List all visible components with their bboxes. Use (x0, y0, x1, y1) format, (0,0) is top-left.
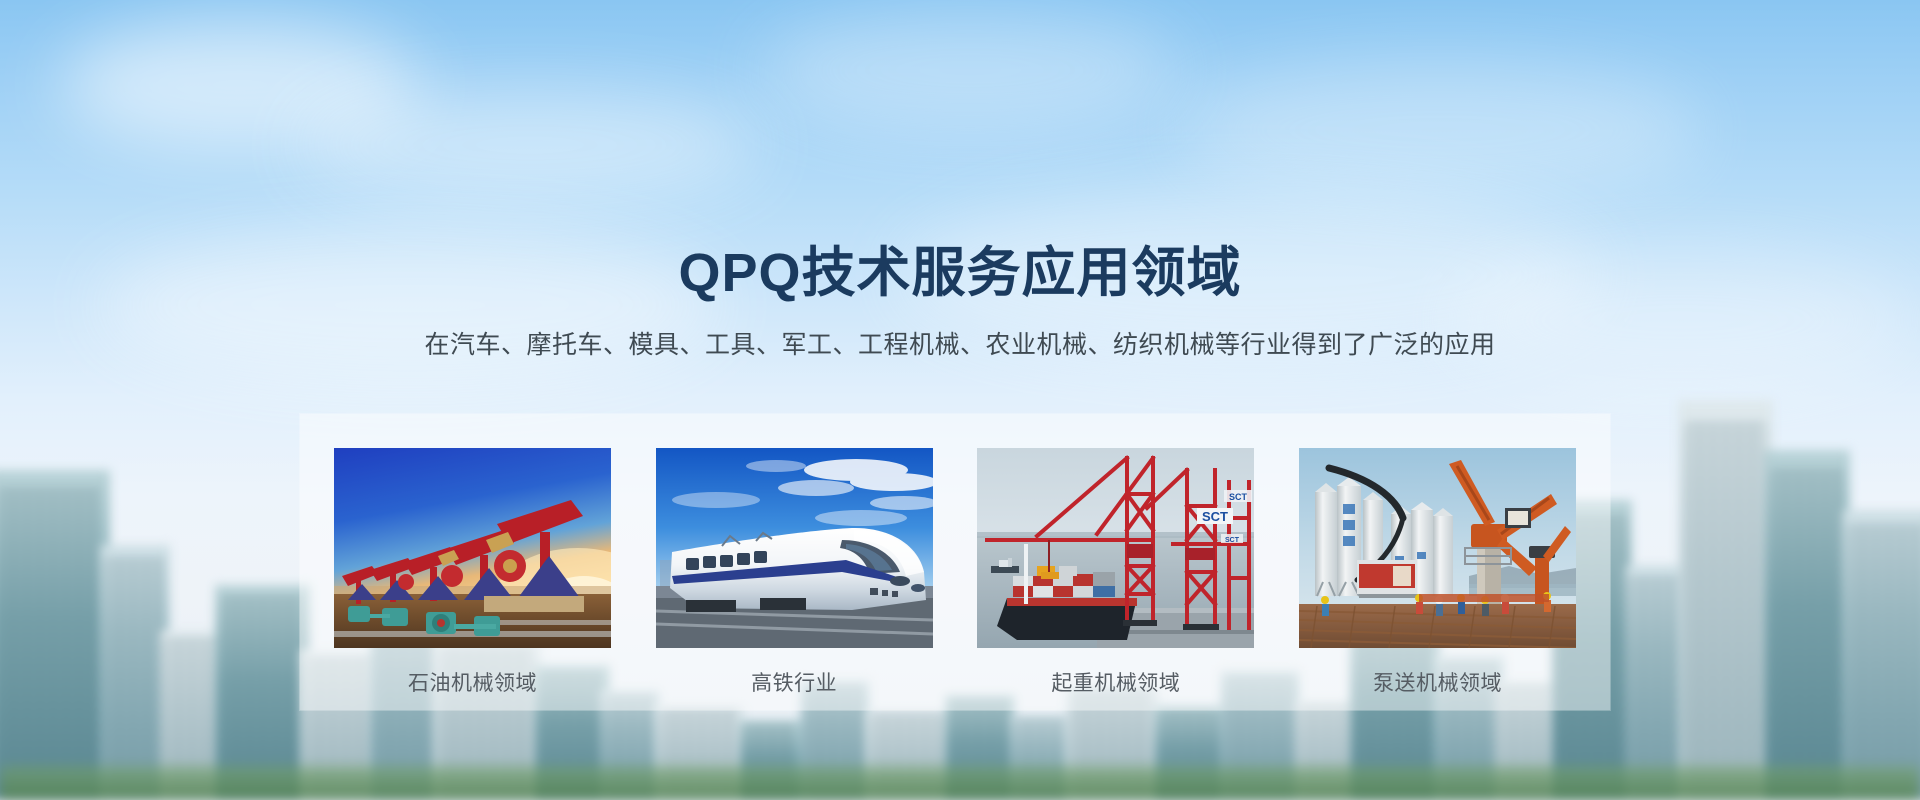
skyline-building (160, 630, 220, 800)
skyline-building (1295, 700, 1355, 800)
skyline-building (740, 720, 800, 800)
cloud-wisp-icon (60, 20, 420, 150)
skyline-building (100, 545, 170, 800)
card-caption: 石油机械领域 (408, 667, 537, 697)
skyline-building (1765, 450, 1850, 800)
svg-text:SCT: SCT (1229, 492, 1248, 502)
card-thumbnail-oil[interactable] (334, 448, 611, 648)
card-caption: 泵送机械领域 (1373, 667, 1502, 697)
port-crane-illustration: SCT SCT SCT (977, 448, 1254, 648)
skyline-building (1010, 715, 1070, 800)
cloud-wisp-icon (300, 90, 760, 200)
list-item[interactable]: 石油机械领域 (334, 448, 611, 710)
concrete-pump-illustration (1299, 448, 1576, 648)
skyline-building (0, 470, 110, 800)
card-thumbnail-train[interactable] (656, 448, 933, 648)
page-title: QPQ技术服务应用领域 (0, 243, 1920, 303)
svg-text:SCT: SCT (1225, 537, 1240, 544)
card-thumbnail-crane[interactable]: SCT SCT SCT (977, 448, 1254, 648)
skyline-building (655, 705, 745, 800)
application-fields-panel: 石油机械领域 (300, 414, 1610, 710)
skyline-building (945, 695, 1015, 800)
oil-field-illustration (334, 448, 611, 648)
list-item[interactable]: 泵送机械领域 (1299, 448, 1576, 710)
skyline-building (865, 710, 950, 800)
card-thumbnail-pump[interactable] (1299, 448, 1576, 648)
cloud-wisp-icon (760, 10, 1180, 130)
card-list: 石油机械领域 (300, 414, 1610, 710)
hero-banner: QPQ技术服务应用领域 在汽车、摩托车、模具、工具、军工、工程机械、农业机械、纺… (0, 0, 1920, 800)
list-item[interactable]: SCT SCT SCT (977, 448, 1254, 710)
high-speed-train-illustration (656, 448, 933, 648)
skyline-building (1678, 400, 1773, 800)
skyline-building (1155, 705, 1225, 800)
skyline-building (215, 585, 310, 800)
card-caption: 起重机械领域 (1051, 667, 1180, 697)
page-subtitle: 在汽车、摩托车、模具、工具、军工、工程机械、农业机械、纺织机械等行业得到了广泛的… (0, 325, 1920, 361)
foreground-greenery (0, 766, 1920, 800)
skyline-building (1842, 510, 1920, 800)
skyline-building (1625, 565, 1685, 800)
svg-text:SCT: SCT (1202, 509, 1228, 524)
card-caption: 高铁行业 (751, 667, 837, 697)
cloud-wisp-icon (1180, 60, 1700, 200)
list-item[interactable]: 高铁行业 (656, 448, 933, 710)
